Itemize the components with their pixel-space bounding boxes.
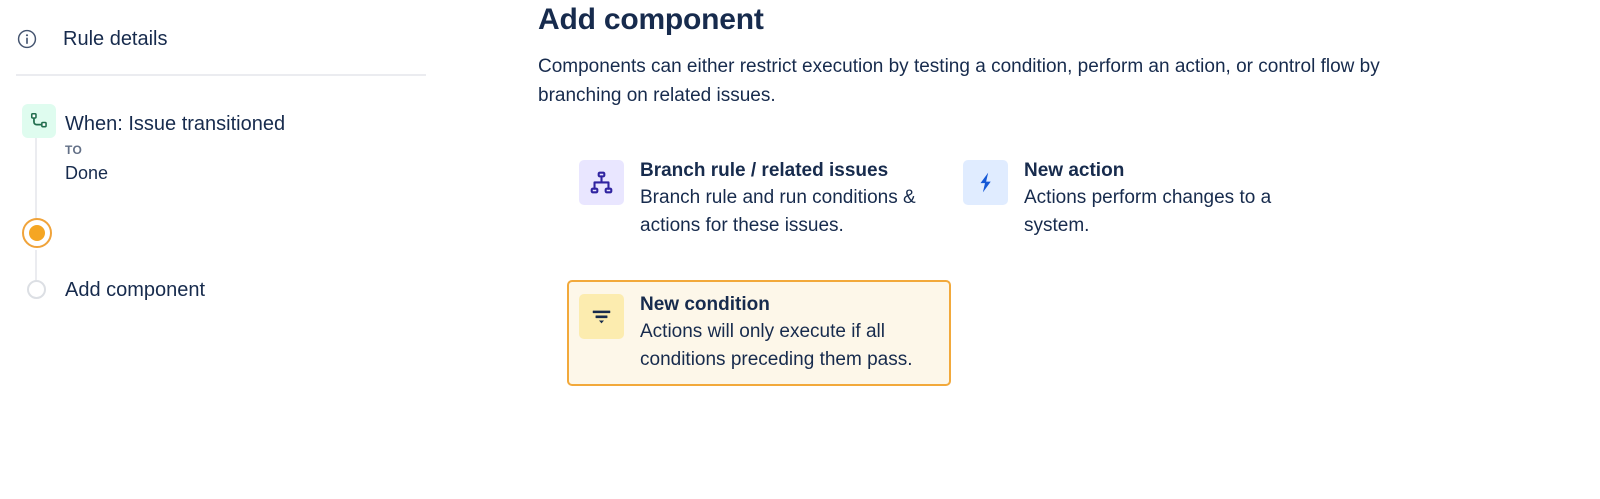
option-desc-new-action: Actions perform changes to a system. (1024, 184, 1310, 240)
sidebar-item-rule-details-label: Rule details (63, 27, 168, 51)
trigger-branch-icon (28, 110, 50, 132)
empty-step-dot-icon[interactable] (27, 280, 46, 299)
lightning-bolt-icon (963, 160, 1008, 205)
option-card-branch-rule[interactable]: Branch rule / related issues Branch rule… (567, 146, 951, 252)
page-title: Add component (538, 1, 764, 39)
option-card-new-condition[interactable]: New condition Actions will only execute … (567, 280, 951, 386)
info-circle-icon (16, 28, 38, 50)
option-text-new-action: New action Actions perform changes to a … (1024, 156, 1310, 240)
trigger-title: When: Issue transitioned (65, 110, 425, 138)
option-card-new-action[interactable]: New action Actions perform changes to a … (951, 146, 1335, 252)
option-title-new-action: New action (1024, 158, 1310, 184)
option-text-new-condition: New condition Actions will only execute … (640, 290, 918, 374)
option-desc-new-condition: Actions will only execute if all conditi… (640, 318, 918, 374)
selected-step-dot-fill (29, 225, 45, 241)
option-title-branch-rule: Branch rule / related issues (640, 158, 930, 184)
sidebar-item-add-component[interactable]: Add component (65, 277, 205, 303)
option-title-new-condition: New condition (640, 292, 918, 318)
connector-line-lower (35, 250, 37, 282)
trigger-sub-value: Done (65, 161, 425, 185)
panel-description: Components can either restrict execution… (538, 52, 1468, 110)
component-options-row-1: Branch rule / related issues Branch rule… (567, 146, 1567, 252)
sidebar-item-rule-details[interactable]: Rule details (16, 22, 168, 56)
connector-line-upper (35, 138, 37, 230)
trigger-node-badge[interactable] (22, 104, 56, 138)
rule-chain-sidebar: Rule details When: Issue transitioned TO… (0, 0, 470, 499)
add-component-panel: Add component Components can either rest… (538, 0, 1578, 499)
option-text-branch-rule: Branch rule / related issues Branch rule… (640, 156, 930, 240)
branch-hierarchy-icon (579, 160, 624, 205)
trigger-sub-label: TO (65, 142, 425, 158)
option-desc-branch-rule: Branch rule and run conditions & actions… (640, 184, 930, 240)
filter-condition-icon (579, 294, 624, 339)
trigger-summary[interactable]: When: Issue transitioned TO Done (65, 110, 425, 185)
component-options-row-2: New condition Actions will only execute … (567, 280, 1567, 386)
selected-step-dot-icon[interactable] (22, 218, 52, 248)
sidebar-divider (16, 74, 426, 76)
component-options-grid: Branch rule / related issues Branch rule… (567, 146, 1567, 386)
